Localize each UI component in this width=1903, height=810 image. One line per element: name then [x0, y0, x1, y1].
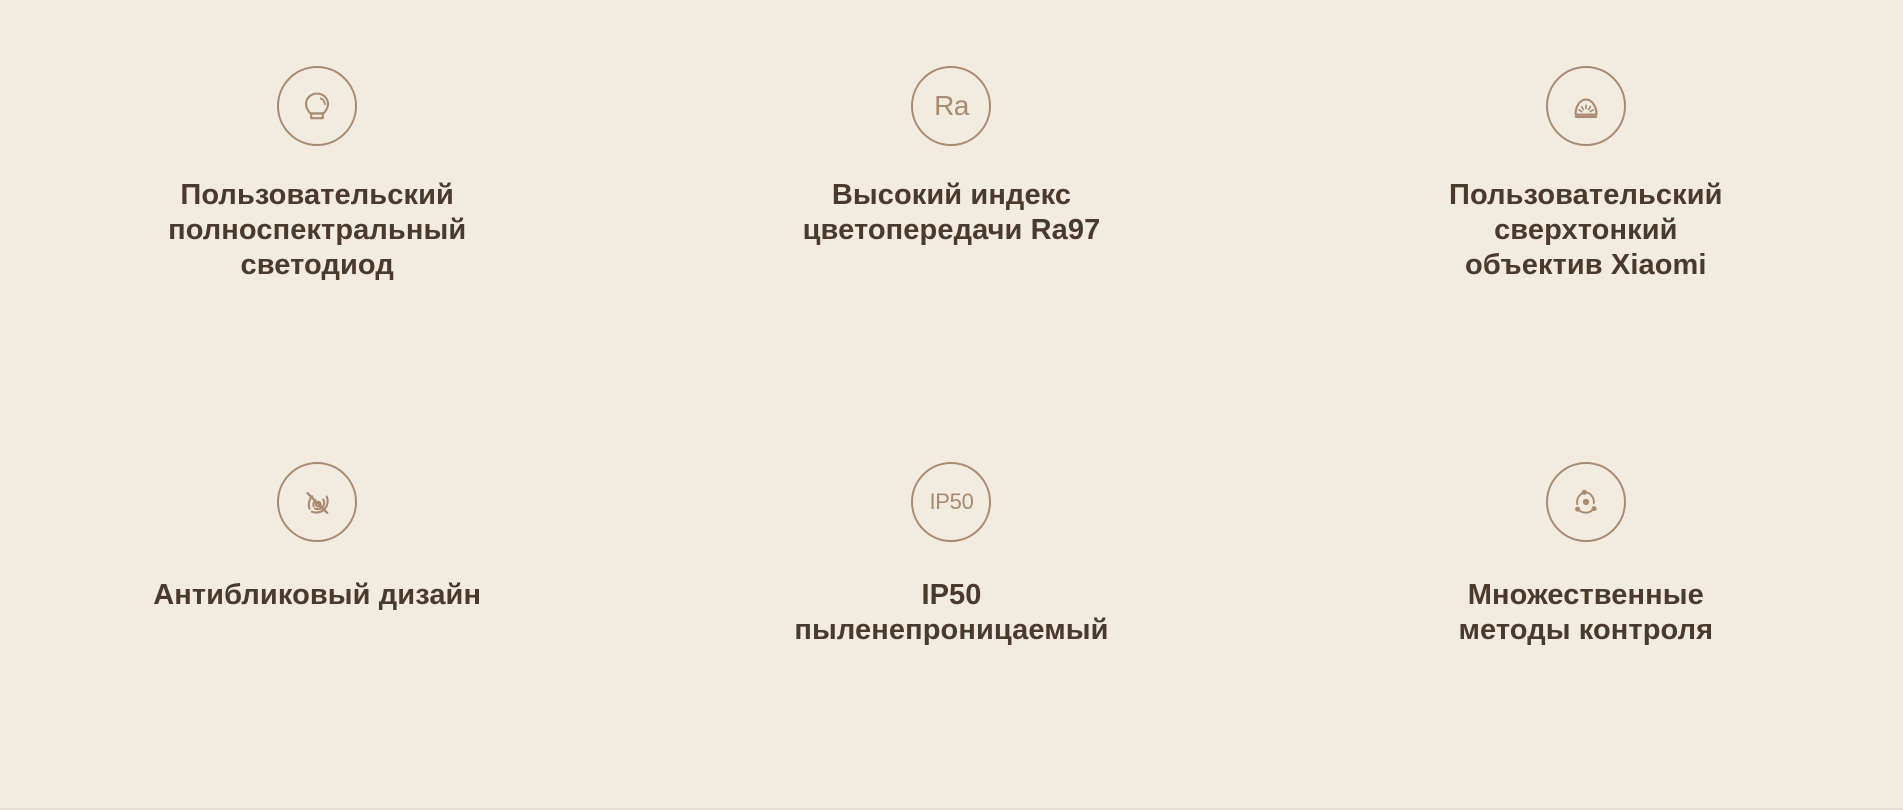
- multi-control-orbit-icon: [1546, 462, 1626, 542]
- feature-card-multi-control: Множественные методы контроля: [1269, 402, 1903, 804]
- anti-glare-eye-off-icon: [277, 462, 357, 542]
- lightbulb-icon-glyph: [295, 84, 339, 128]
- anti-glare-eye-off-icon-glyph: [295, 480, 339, 524]
- feature-label: Пользовательский полноспектральный свето…: [168, 178, 466, 282]
- features-section: Пользовательский полноспектральный свето…: [0, 0, 1903, 810]
- feature-label: IP50 пыленепроницаемый: [794, 578, 1108, 648]
- dome-lens-rays-icon: [1546, 66, 1626, 146]
- lightbulb-icon: [277, 66, 357, 146]
- feature-card-ip50: IP50 IP50 пыленепроницаемый: [634, 402, 1268, 804]
- ra-index-icon-text: Ra: [934, 92, 969, 120]
- feature-label: Высокий индекс цветопередачи Ra97: [803, 178, 1101, 248]
- ip50-rating-icon: IP50: [911, 462, 991, 542]
- ip50-rating-icon-text: IP50: [929, 491, 973, 513]
- feature-card-xiaomi-lens: Пользовательский сверхтонкий объектив Xi…: [1269, 0, 1903, 402]
- feature-label: Множественные методы контроля: [1458, 578, 1713, 648]
- feature-card-anti-glare: Антибликовый дизайн: [0, 402, 634, 804]
- ra-index-icon: Ra: [911, 66, 991, 146]
- features-grid: Пользовательский полноспектральный свето…: [0, 0, 1903, 804]
- feature-label: Антибликовый дизайн: [153, 578, 481, 613]
- dome-lens-rays-icon-glyph: [1564, 84, 1608, 128]
- feature-card-full-spectrum-led: Пользовательский полноспектральный свето…: [0, 0, 634, 402]
- feature-card-ra-index: Ra Высокий индекс цветопередачи Ra97: [634, 0, 1268, 402]
- multi-control-orbit-icon-glyph: [1564, 480, 1608, 524]
- feature-label: Пользовательский сверхтонкий объектив Xi…: [1449, 178, 1723, 282]
